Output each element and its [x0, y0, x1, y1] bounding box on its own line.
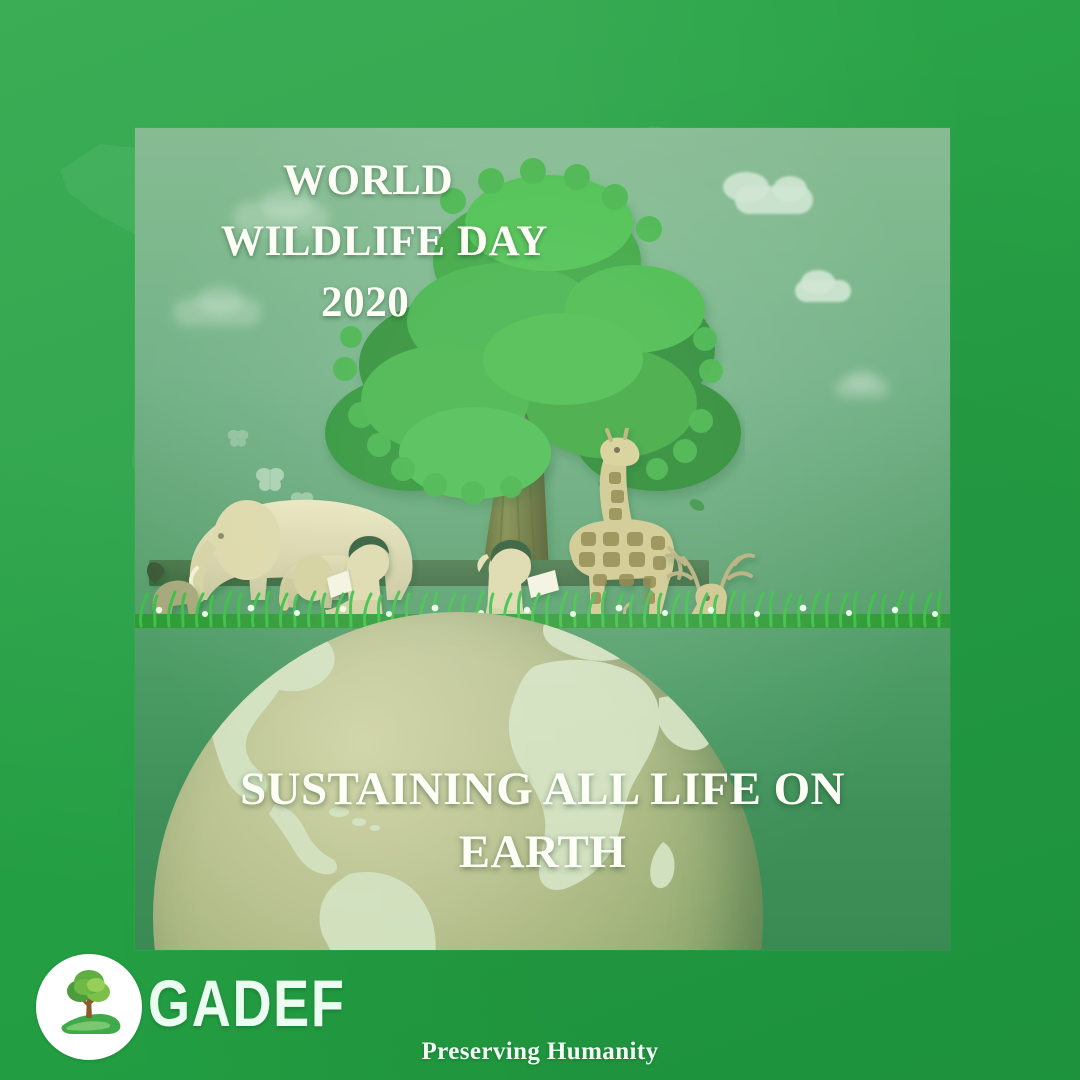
headline-line-3: 2020: [221, 272, 641, 333]
poster-canvas: WORLD WILDLIFE DAY 2020 SUSTAINING ALL L…: [0, 0, 1080, 1080]
headline-text: WORLD WILDLIFE DAY 2020: [221, 150, 641, 333]
cloud-icon: [773, 176, 807, 202]
brand-tagline: Preserving Humanity: [0, 1038, 1080, 1066]
brand-name: GADEF: [148, 970, 346, 1036]
headline-line-2: WILDLIFE DAY: [221, 211, 641, 272]
illustration-panel: WORLD WILDLIFE DAY 2020 SUSTAINING ALL L…: [135, 128, 950, 950]
subhead-line-1: SUSTAINING ALL LIFE ON: [135, 758, 950, 821]
subhead-text: SUSTAINING ALL LIFE ON EARTH: [135, 758, 950, 885]
cloud-icon: [801, 270, 835, 294]
footer-bar: GADEF Preserving Humanity: [0, 950, 1080, 1080]
cloud-icon: [847, 370, 877, 390]
subhead-line-2: EARTH: [135, 821, 950, 884]
headline-line-1: WORLD: [221, 150, 641, 211]
